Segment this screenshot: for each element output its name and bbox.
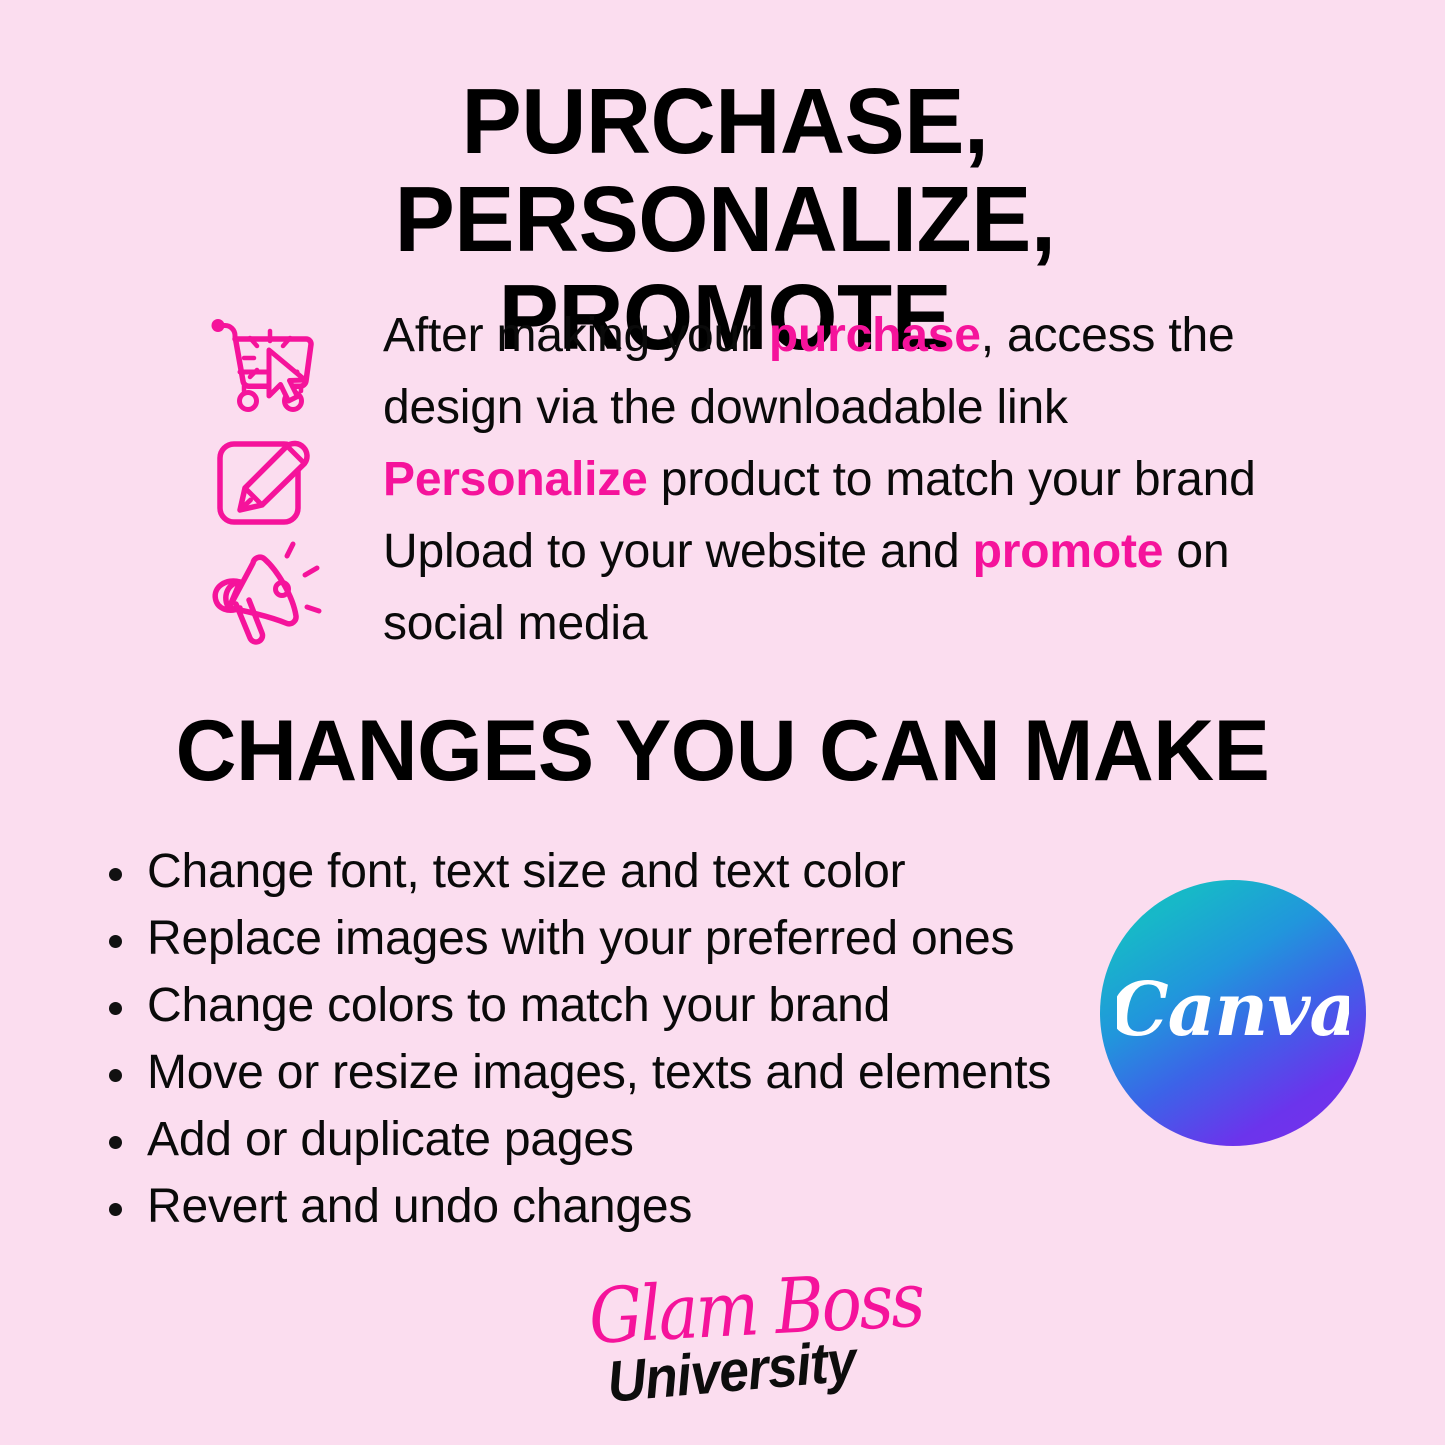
list-item-label: Revert and undo changes (147, 1180, 692, 1233)
steps-section: After making your purchase, access the d… (0, 300, 1445, 665)
list-item-label: Change colors to match your brand (147, 979, 890, 1032)
list-item: Add or duplicate pages (95, 1106, 1095, 1173)
list-item-label: Move or resize images, texts and element… (147, 1046, 1051, 1099)
step-1-highlight: purchase (769, 309, 981, 362)
canva-script-text: Canva (1117, 965, 1349, 1061)
bullet-dot-icon (109, 868, 122, 881)
list-item: Change colors to match your brand (95, 972, 1095, 1039)
bullet-dot-icon (109, 1136, 122, 1149)
poster-canvas: PURCHASE, PERSONALIZE, PROMOTE (0, 0, 1445, 1445)
list-item: Replace images with your preferred ones (95, 905, 1095, 972)
bullet-dot-icon (109, 1002, 122, 1015)
list-item: Change font, text size and text color (95, 838, 1095, 905)
list-item: Revert and undo changes (95, 1173, 1095, 1240)
list-item: Move or resize images, texts and element… (95, 1039, 1095, 1106)
step-line-3: Upload to your website and promote on so… (383, 516, 1343, 660)
section-heading: CHANGES YOU CAN MAKE (132, 705, 1313, 797)
step-3-highlight: promote (973, 525, 1164, 578)
list-item-label: Add or duplicate pages (147, 1113, 634, 1166)
step-1-prefix: After making your (383, 309, 769, 362)
step-3-prefix: Upload to your website and (383, 525, 973, 578)
shopping-cart-click-icon (205, 308, 325, 428)
list-item-label: Replace images with your preferred ones (147, 912, 1014, 965)
megaphone-icon (207, 538, 325, 648)
canva-wordmark: Canva (1100, 880, 1366, 1146)
bullet-dot-icon (109, 1203, 122, 1216)
step-line-2: Personalize product to match your brand (383, 444, 1343, 516)
step-2-suffix: product to match your brand (648, 453, 1256, 506)
pencil-edit-icon (213, 430, 317, 534)
steps-icon-column (205, 300, 340, 665)
step-2-highlight: Personalize (383, 453, 648, 506)
bullet-dot-icon (109, 935, 122, 948)
changes-list: Change font, text size and text color Re… (95, 838, 1095, 1240)
step-line-1: After making your purchase, access the d… (383, 300, 1343, 444)
steps-text-column: After making your purchase, access the d… (383, 300, 1343, 660)
brand-logo: Glam Boss University (575, 1275, 875, 1425)
bullet-dot-icon (109, 1069, 122, 1082)
canva-logo-badge: Canva (1100, 880, 1366, 1146)
svg-text:Canva: Canva (1117, 967, 1349, 1053)
list-item-label: Change font, text size and text color (147, 845, 905, 898)
